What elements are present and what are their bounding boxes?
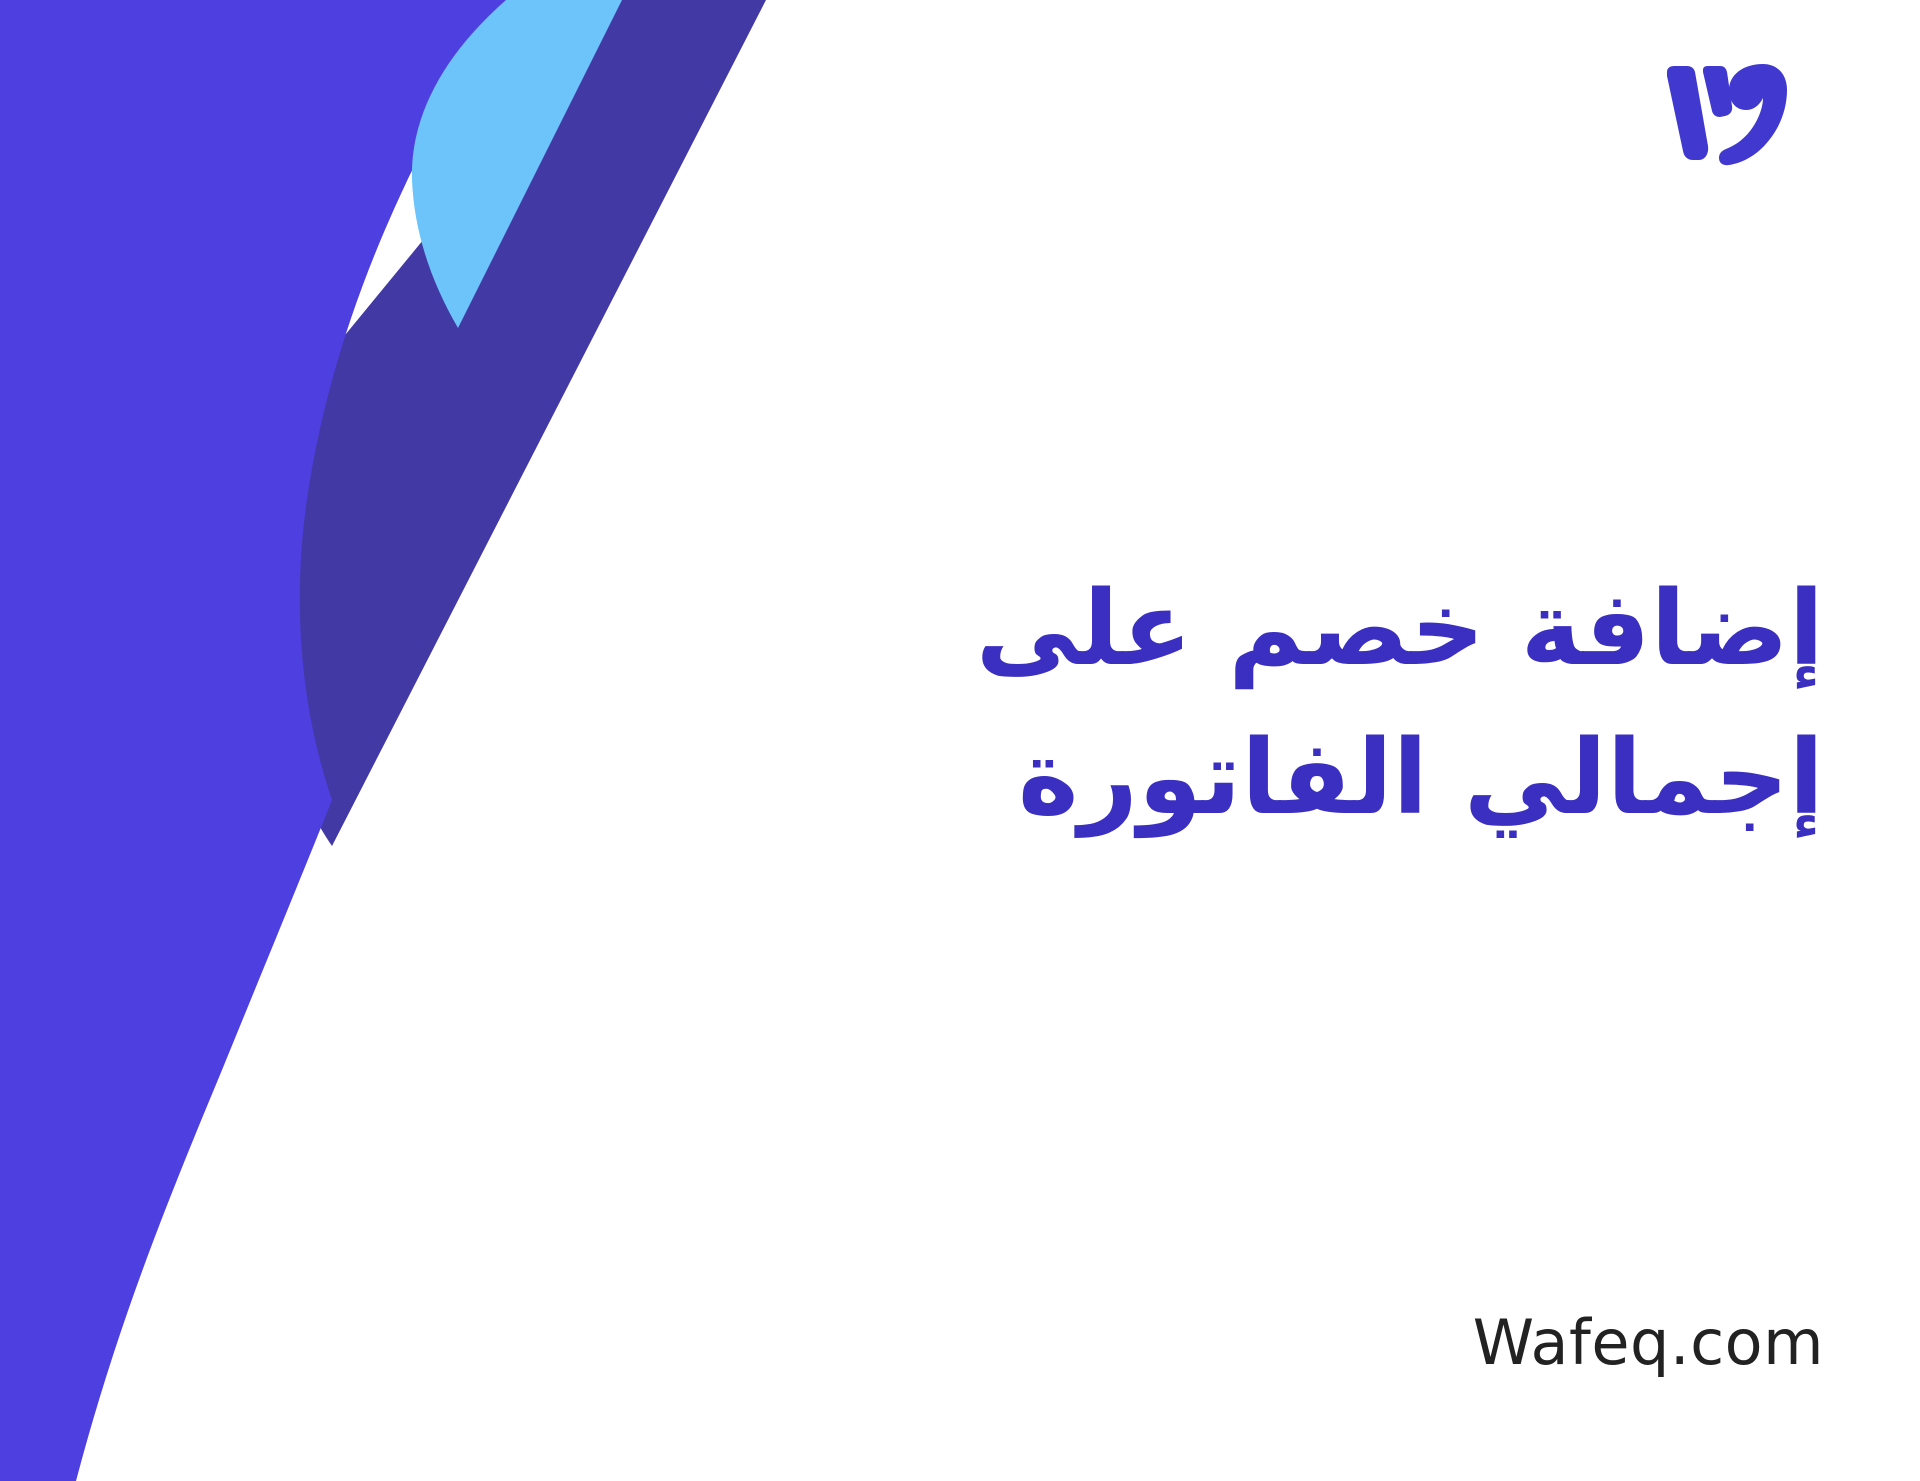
indigo-band-shape	[254, 0, 766, 846]
cyan-swoosh-shape	[412, 0, 622, 328]
wafeq-w-logo-icon	[1667, 64, 1787, 165]
decorative-artwork	[0, 0, 800, 1481]
wafeq-logo	[1663, 62, 1793, 170]
site-url-label: Wafeq.com	[1473, 1306, 1824, 1379]
social-card-canvas: إضافة خصم على إجمالي الفاتورة Wafeq.com	[0, 0, 1920, 1481]
page-title: إضافة خصم على إجمالي الفاتورة	[904, 555, 1824, 854]
purple-slab-shape	[0, 0, 506, 1481]
